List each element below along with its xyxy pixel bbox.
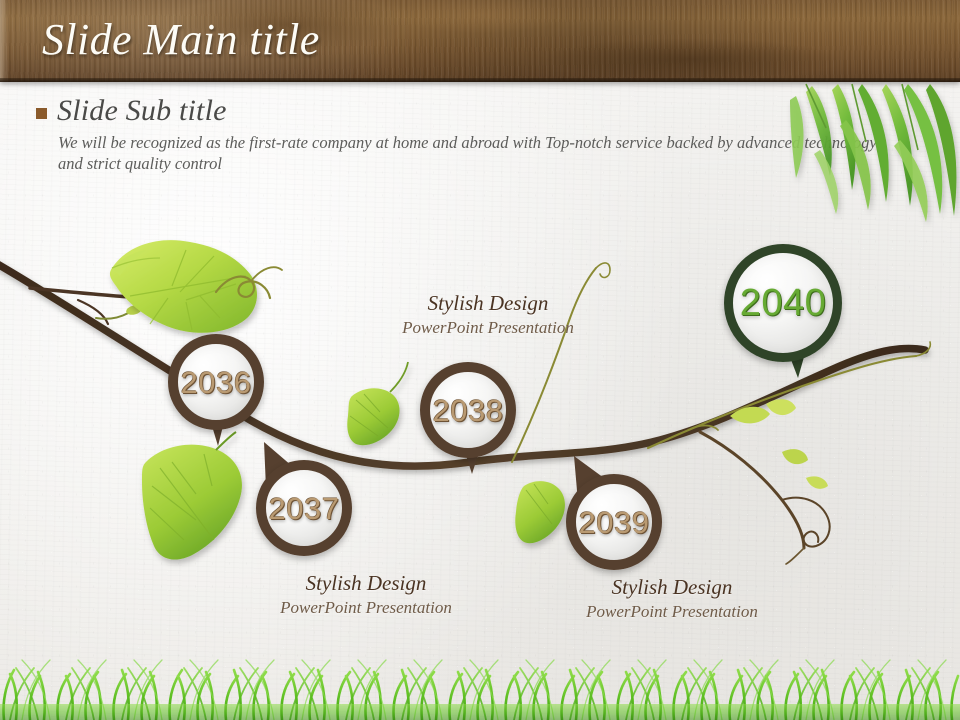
caption-subtitle: PowerPoint Presentation: [378, 316, 598, 339]
caption-subtitle: PowerPoint Presentation: [256, 596, 476, 619]
caption-subtitle: PowerPoint Presentation: [562, 600, 782, 623]
marker-circle-2038[interactable]: 2038: [420, 362, 516, 458]
caption-title: Stylish Design: [256, 570, 476, 596]
square-bullet-icon: [36, 108, 47, 119]
subtitle-row: Slide Sub title: [36, 92, 896, 130]
plank-left-edge: [0, 0, 8, 82]
caption-title: Stylish Design: [378, 290, 598, 316]
timeline-marker-2040[interactable]: 2040: [724, 244, 844, 386]
marker-circle-2036[interactable]: 2036: [168, 334, 264, 430]
marker-circle-2037[interactable]: 2037: [256, 460, 352, 556]
caption-2039: Stylish Design PowerPoint Presentation: [562, 574, 782, 623]
marker-year-label: 2039: [579, 507, 650, 538]
timeline-marker-2036[interactable]: 2036: [168, 334, 264, 454]
marker-year-label: 2038: [433, 395, 504, 426]
slide-canvas: Slide Main title Slide Sub title We will…: [0, 0, 960, 720]
marker-year-label: 2037: [269, 493, 340, 524]
caption-title: Stylish Design: [562, 574, 782, 600]
page-title: Slide Main title: [42, 11, 320, 69]
timeline-marker-2038[interactable]: 2038: [420, 362, 518, 482]
grass-strip: [0, 642, 960, 720]
subtitle-block: Slide Sub title We will be recognized as…: [36, 92, 896, 174]
subtitle-text: Slide Sub title: [57, 92, 227, 130]
timeline-marker-2039[interactable]: 2039: [560, 452, 668, 576]
caption-2038: Stylish Design PowerPoint Presentation: [378, 290, 598, 339]
description-text: We will be recognized as the first-rate …: [58, 132, 898, 174]
marker-circle-2040[interactable]: 2040: [724, 244, 842, 362]
marker-circle-2039[interactable]: 2039: [566, 474, 662, 570]
caption-2037: Stylish Design PowerPoint Presentation: [256, 570, 476, 619]
timeline-marker-2037[interactable]: 2037: [252, 436, 356, 558]
marker-year-label: 2036: [181, 367, 252, 398]
marker-year-label: 2040: [740, 284, 827, 322]
plank-bottom-edge: [0, 78, 960, 82]
